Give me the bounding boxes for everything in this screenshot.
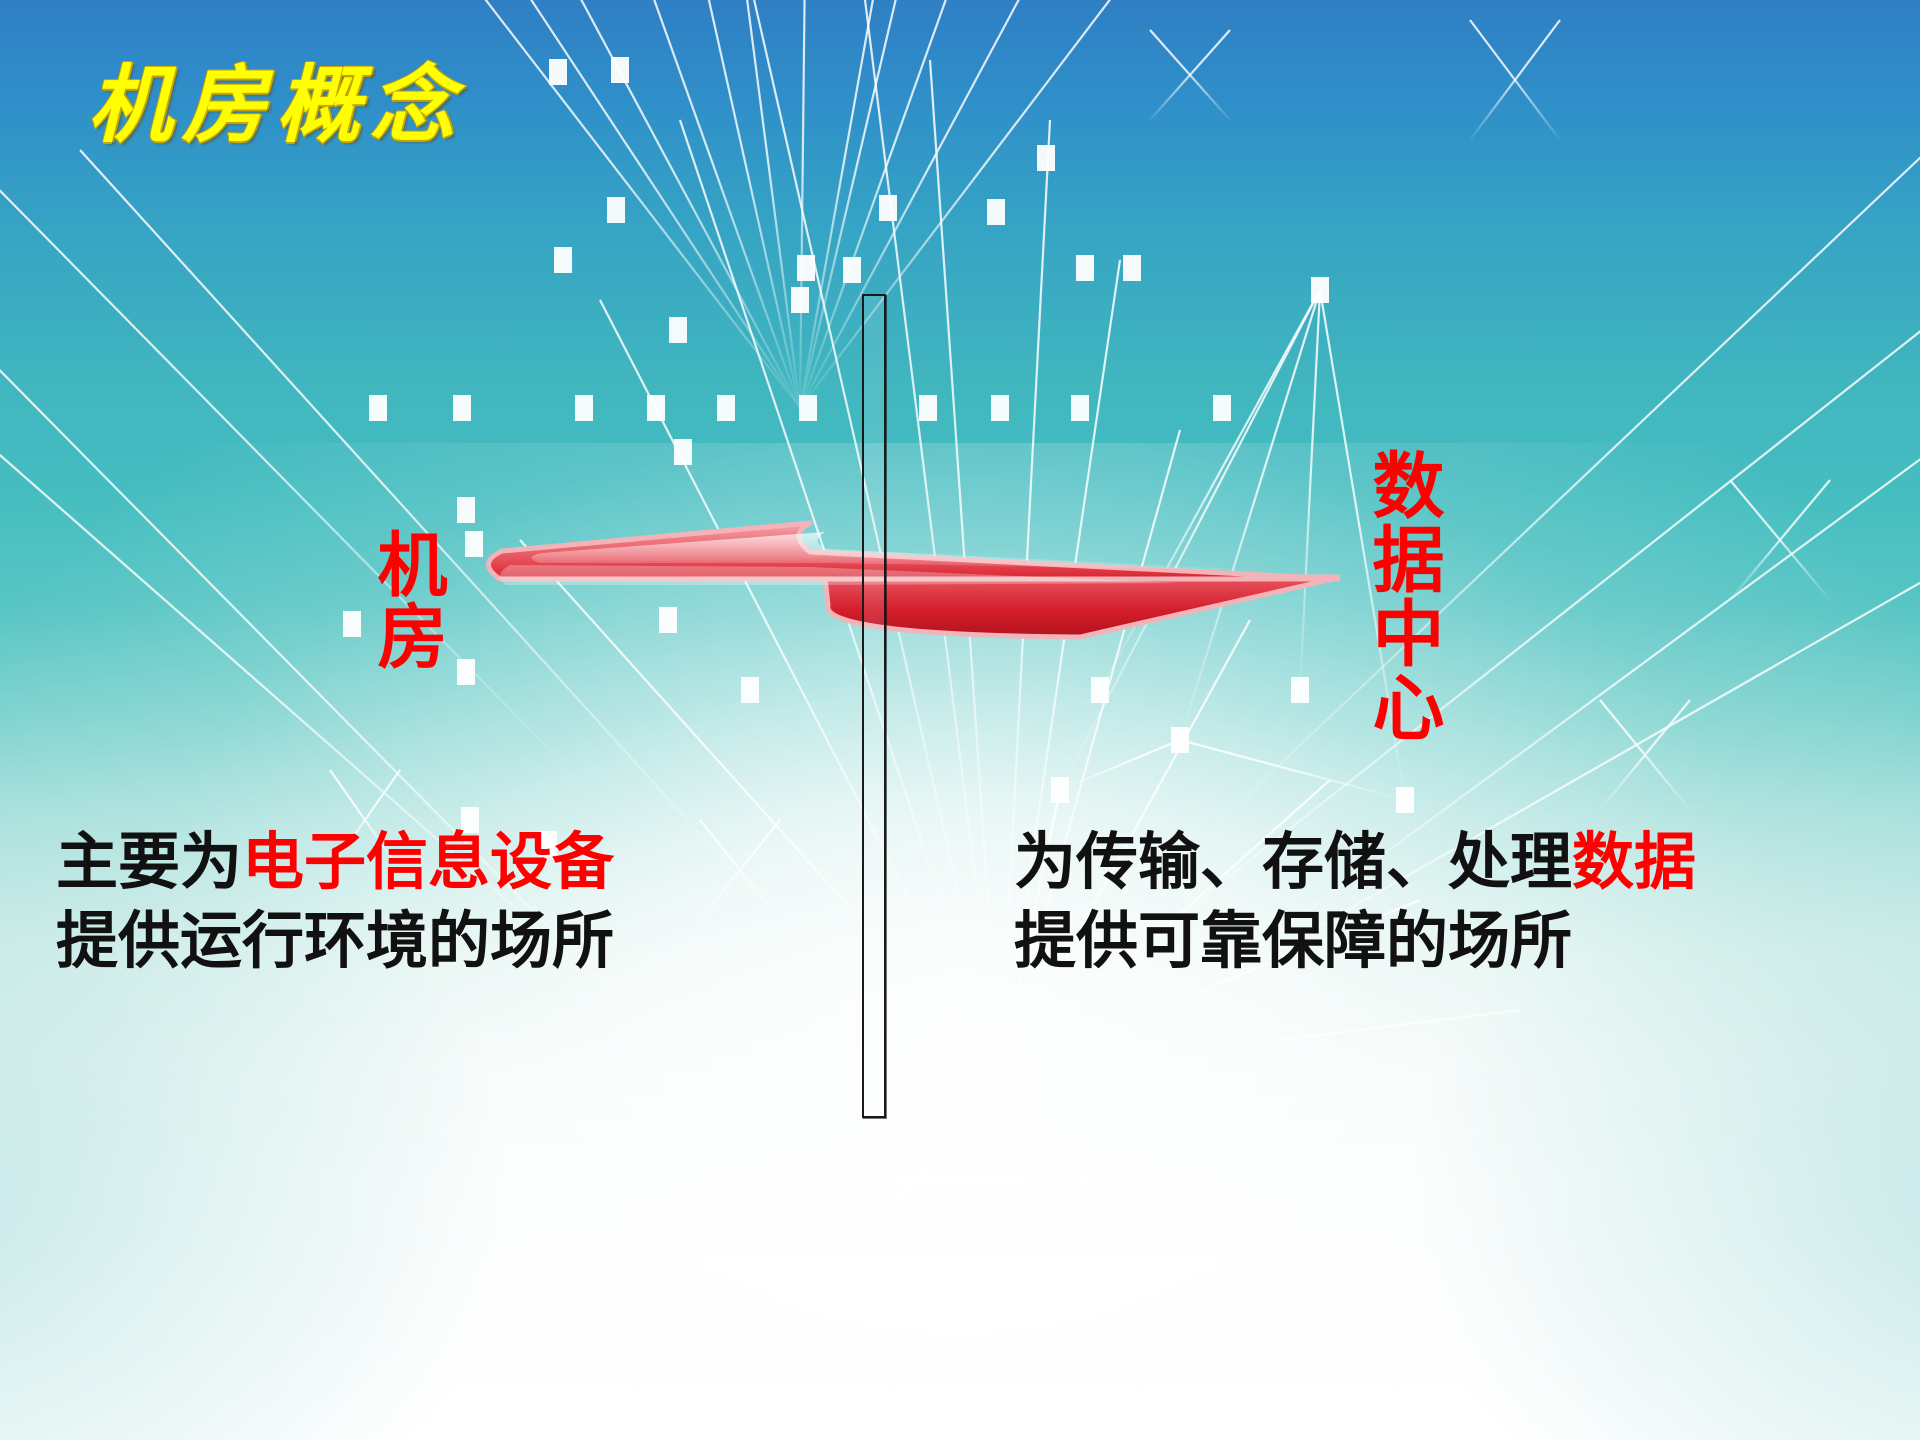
description-right: 为传输、存储、处理数据 提供可靠保障的场所 (1014, 822, 1696, 981)
description-right-highlight: 数据 (1572, 825, 1696, 898)
label-machine-room: 机房 (372, 528, 442, 672)
right-arrow-icon (480, 505, 1340, 650)
label-data-center: 数据中心 (1366, 448, 1438, 744)
slide-canvas: 机房概念 (0, 0, 1920, 1440)
background-gradient (0, 0, 1920, 1440)
description-right-line1: 为传输、存储、处理数据 (1014, 822, 1696, 901)
page-title: 机房概念 (88, 38, 464, 159)
description-left-plain: 主要为 (56, 825, 242, 898)
description-left: 主要为电子信息设备 提供运行环境的场所 (56, 822, 614, 981)
vertical-divider (862, 294, 886, 1118)
description-left-line2: 提供运行环境的场所 (56, 901, 614, 980)
description-left-line1: 主要为电子信息设备 (56, 822, 614, 901)
description-right-plain: 为传输、存储、处理 (1014, 825, 1572, 898)
description-right-line2: 提供可靠保障的场所 (1014, 901, 1696, 980)
description-left-highlight: 电子信息设备 (242, 825, 614, 898)
